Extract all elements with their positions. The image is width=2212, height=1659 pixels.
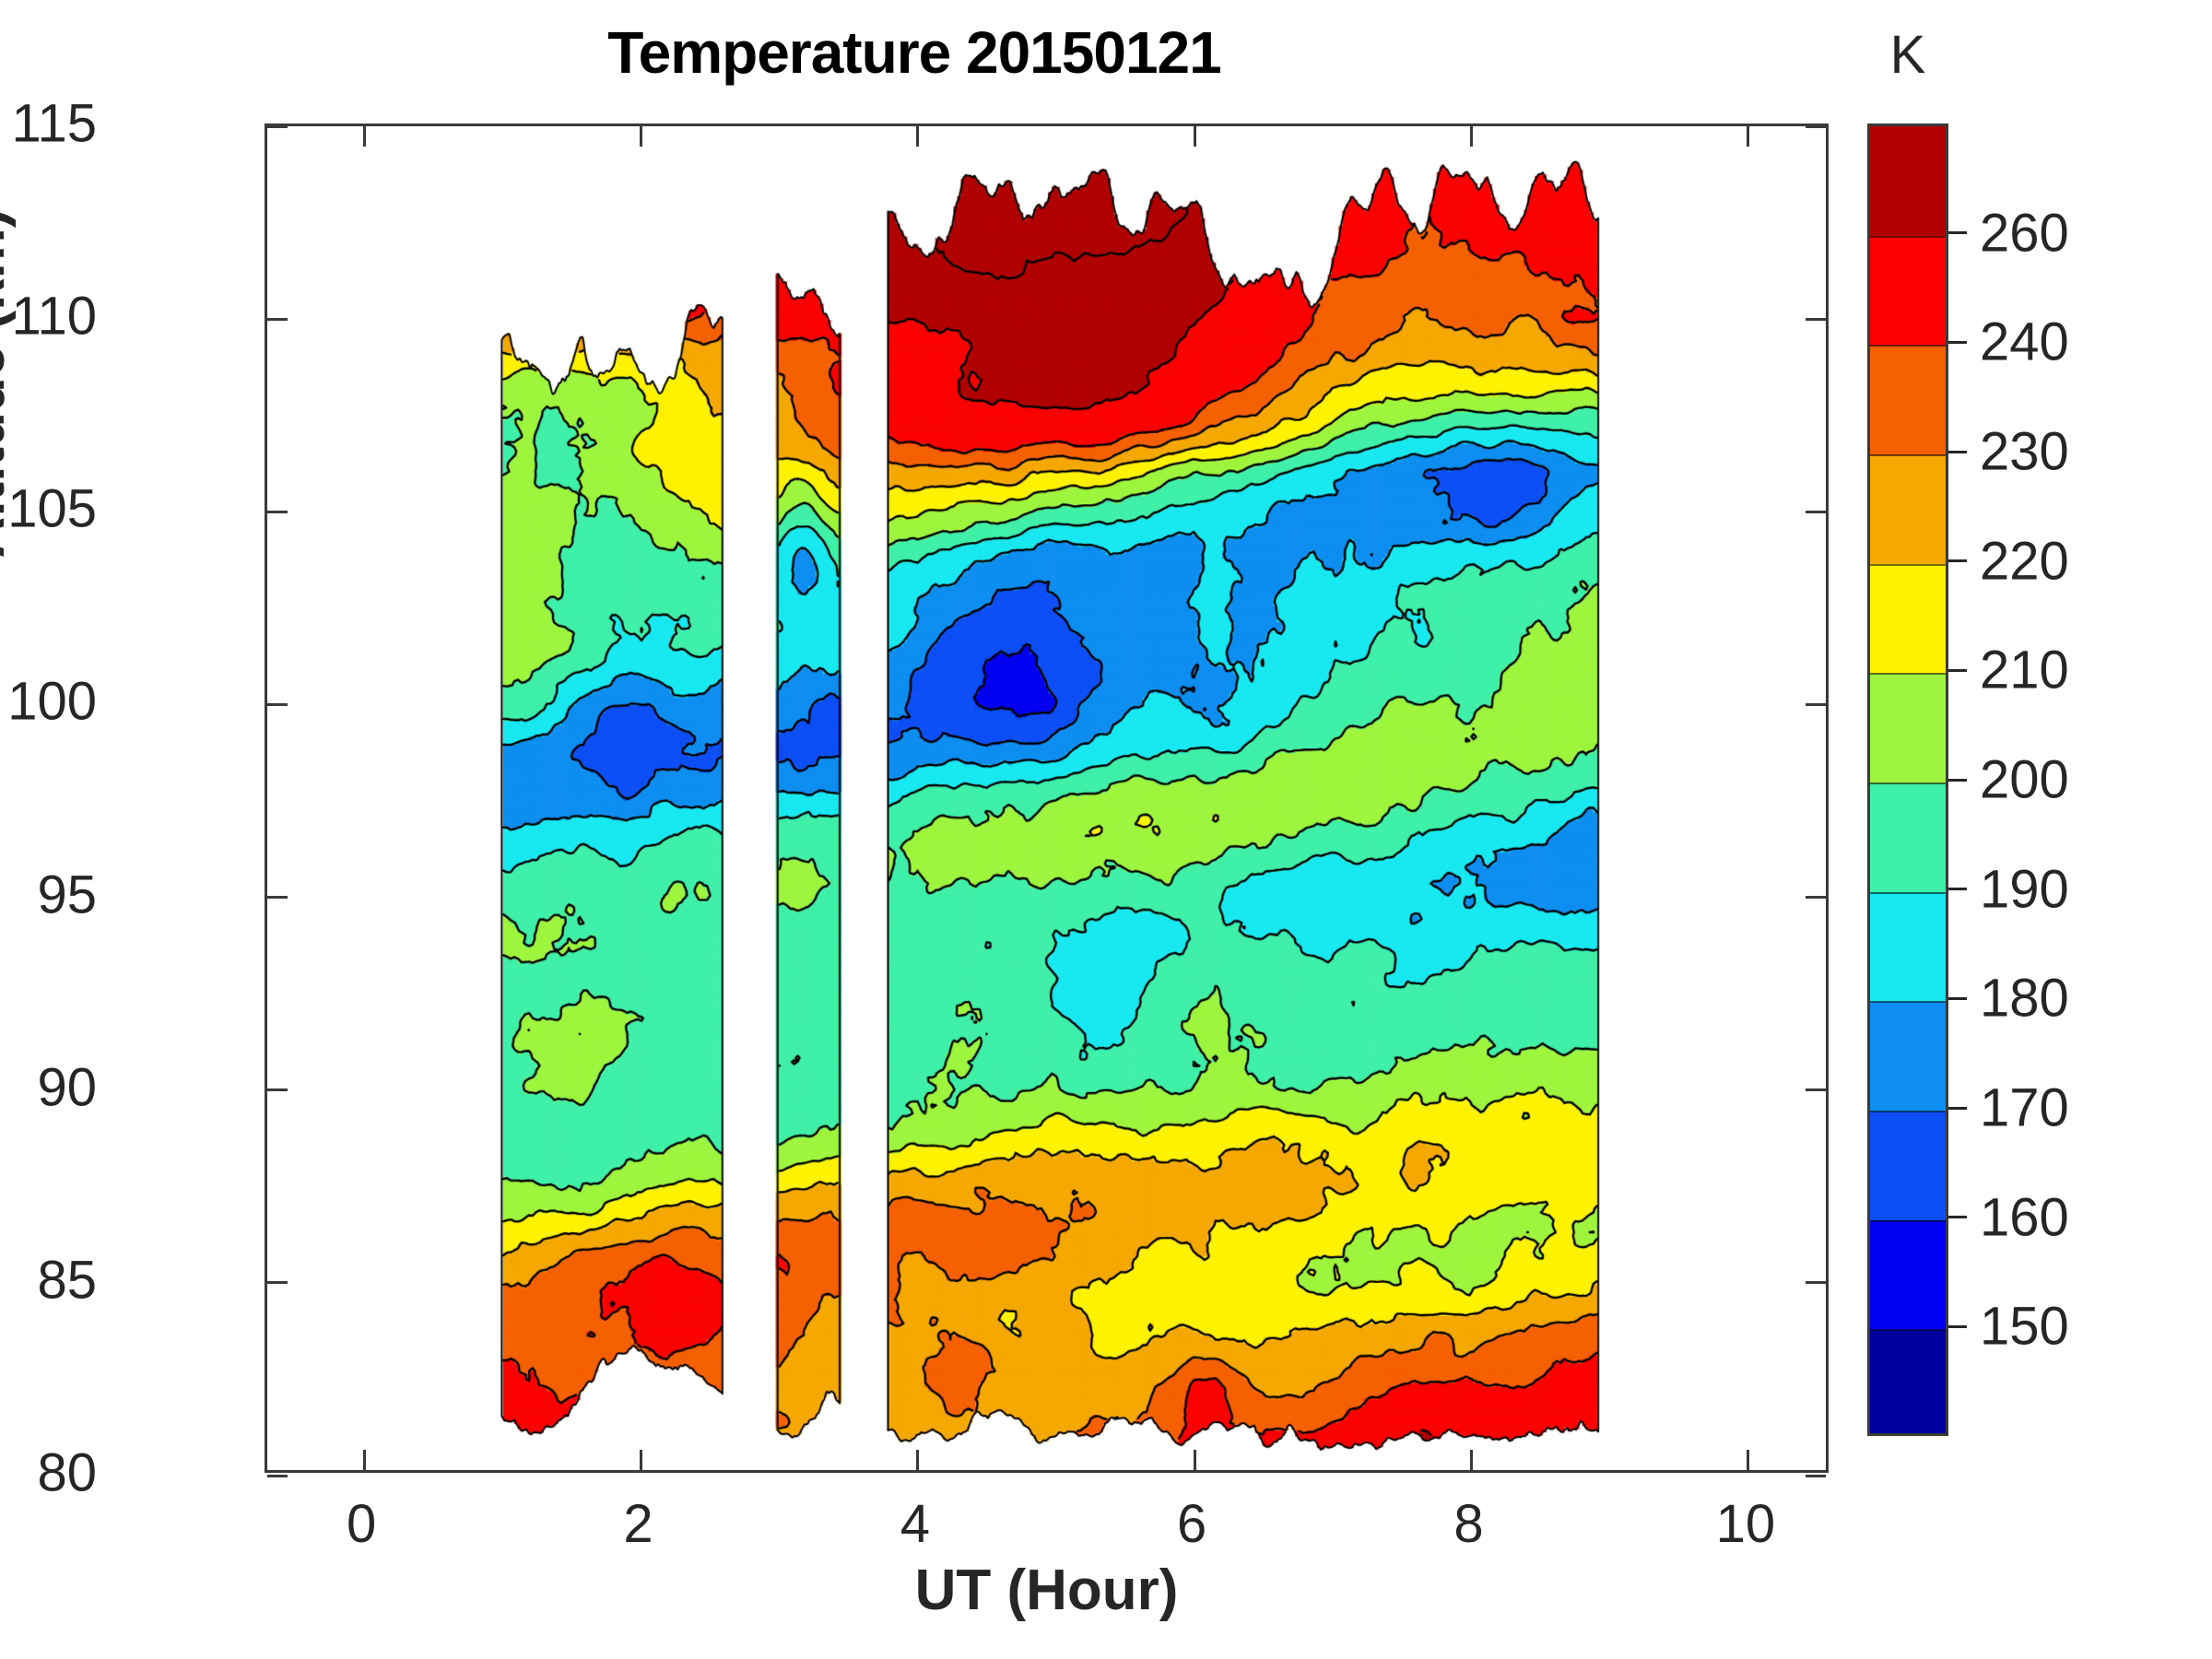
colorbar-tick-mark (1948, 1107, 1967, 1110)
colorbar-band (1870, 345, 1946, 454)
x-tick-mark (640, 1450, 642, 1470)
colorbar-gradient (1867, 124, 1948, 1436)
colorbar-tick-label: 180 (1980, 968, 2069, 1030)
colorbar-separator (1870, 782, 1946, 784)
y-axis-label: Altitude (km) (0, 0, 18, 798)
colorbar-band (1870, 673, 1946, 782)
colorbar-tick-mark (1948, 231, 1967, 234)
x-tick-label: 2 (546, 1493, 730, 1555)
colorbar-tick-label: 170 (1980, 1077, 2069, 1139)
y-tick-mark (1806, 318, 1826, 321)
colorbar-tick-label: 150 (1980, 1296, 2069, 1358)
y-tick-label: 95 (0, 864, 97, 925)
y-tick-mark (1806, 703, 1826, 706)
y-tick-mark (1806, 125, 1826, 128)
colorbar-separator (1870, 673, 1946, 675)
x-tick-label: 8 (1377, 1493, 1561, 1555)
colorbar-tick-label: 220 (1980, 530, 2069, 592)
colorbar-tick-mark (1948, 451, 1967, 453)
colorbar-separator (1870, 345, 1946, 347)
x-tick-label: 10 (1653, 1493, 1838, 1555)
x-tick-mark (1194, 1450, 1196, 1470)
colorbar-tick-mark (1948, 997, 1967, 1000)
x-tick-label: 4 (823, 1493, 1007, 1555)
colorbar-separator (1870, 236, 1946, 238)
colorbar-tick-mark (1948, 669, 1967, 672)
colorbar-band (1870, 892, 1946, 1002)
y-tick-mark (1806, 896, 1826, 899)
colorbar (1867, 124, 1948, 1436)
colorbar-tick-label: 240 (1980, 312, 2069, 373)
y-tick-mark (267, 1475, 288, 1477)
colorbar-tick-mark (1948, 1325, 1967, 1328)
colorbar-tick-label: 230 (1980, 421, 2069, 483)
colorbar-tick-label: 260 (1980, 202, 2069, 264)
colorbar-separator (1870, 1111, 1946, 1112)
colorbar-tick-mark (1948, 1216, 1967, 1218)
y-tick-mark (267, 1281, 288, 1284)
colorbar-separator (1870, 1329, 1946, 1331)
colorbar-band (1870, 564, 1946, 674)
colorbar-separator (1870, 1220, 1946, 1222)
colorbar-band (1870, 1111, 1946, 1220)
y-tick-mark (1806, 511, 1826, 513)
y-tick-label: 90 (0, 1056, 97, 1118)
y-tick-mark (267, 896, 288, 899)
x-tick-mark (1194, 126, 1196, 147)
colorbar-band (1870, 454, 1946, 564)
figure-root: Temperature 20150121 8085909510010511011… (0, 0, 2212, 1659)
colorbar-band (1870, 1220, 1946, 1330)
colorbar-tick-label: 210 (1980, 640, 2069, 701)
colorbar-band (1870, 1001, 1946, 1111)
x-axis-label: UT (Hour) (265, 1558, 1829, 1623)
colorbar-separator (1870, 454, 1946, 456)
x-tick-mark (1747, 1450, 1749, 1470)
colorbar-tick-label: 190 (1980, 858, 2069, 920)
colorbar-separator (1870, 1001, 1946, 1003)
colorbar-band (1870, 1329, 1946, 1436)
y-tick-mark (267, 318, 288, 321)
x-tick-mark (1470, 1450, 1473, 1470)
y-tick-mark (267, 511, 288, 513)
x-tick-mark (363, 1450, 366, 1470)
y-tick-mark (1806, 1475, 1826, 1477)
x-tick-mark (363, 126, 366, 147)
colorbar-separator (1870, 892, 1946, 894)
y-tick-label: 80 (0, 1442, 97, 1504)
x-tick-label: 0 (269, 1493, 453, 1555)
colorbar-tick-label: 200 (1980, 749, 2069, 811)
x-tick-mark (1747, 126, 1749, 147)
colorbar-band (1870, 236, 1946, 346)
colorbar-band (1870, 126, 1946, 236)
x-tick-mark (916, 1450, 919, 1470)
colorbar-separator (1870, 564, 1946, 566)
colorbar-tick-label: 160 (1980, 1186, 2069, 1248)
colorbar-tick-mark (1948, 341, 1967, 344)
y-tick-mark (267, 125, 288, 128)
page-title: Temperature 20150121 (0, 18, 1829, 87)
y-tick-mark (267, 1088, 288, 1091)
y-tick-mark (1806, 1281, 1826, 1284)
colorbar-tick-mark (1948, 779, 1967, 782)
x-tick-mark (640, 126, 642, 147)
colorbar-tick-mark (1948, 888, 1967, 890)
colorbar-tick-mark (1948, 559, 1967, 562)
y-tick-mark (267, 703, 288, 706)
x-tick-mark (916, 126, 919, 147)
contour-canvas (267, 126, 1826, 1470)
plot-area (265, 124, 1829, 1473)
x-tick-mark (1470, 126, 1473, 147)
y-tick-label: 85 (0, 1249, 97, 1311)
x-tick-label: 6 (1100, 1493, 1284, 1555)
colorbar-band (1870, 782, 1946, 892)
colorbar-unit-label: K (1867, 24, 1948, 86)
y-tick-mark (1806, 1088, 1826, 1091)
